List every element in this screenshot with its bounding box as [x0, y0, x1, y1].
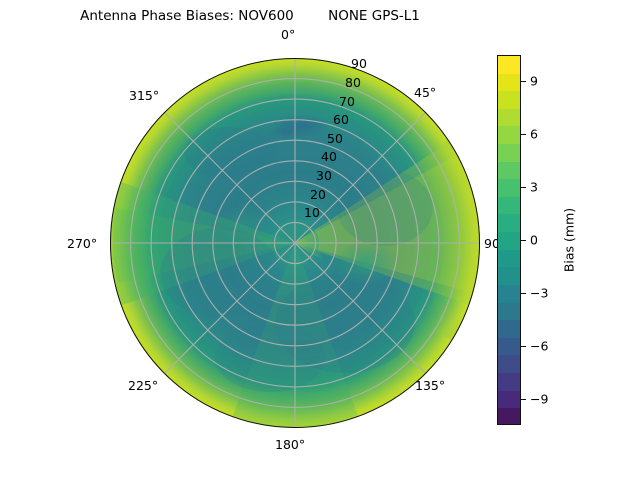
colorbar-tick-label-neg6: −6: [530, 338, 548, 353]
colorbar-tick-label-3: 3: [530, 180, 538, 195]
colorbar-gradient: [497, 55, 521, 425]
colorbar-tick: [521, 134, 526, 135]
colorbar-segment: [498, 391, 520, 409]
colorbar-segment: [498, 373, 520, 391]
colorbar-segment: [498, 285, 520, 303]
contour-fill-group: [110, 58, 480, 428]
radial-label-70: 70: [336, 94, 358, 109]
colorbar-tick-label-9: 9: [530, 74, 538, 89]
colorbar-tick: [521, 81, 526, 82]
page-title: Antenna Phase Biases: NOV600 NONE GPS-L1: [0, 8, 500, 24]
polar-axes: [110, 58, 480, 428]
colorbar-segment: [498, 91, 520, 109]
radial-label-40: 40: [318, 149, 340, 164]
colorbar-tick: [521, 293, 526, 294]
polar-data-surface: [110, 58, 480, 428]
colorbar-tick: [521, 187, 526, 188]
radial-label-10: 10: [301, 205, 323, 220]
colorbar-segment: [498, 74, 520, 92]
colorbar-segment: [498, 109, 520, 127]
colorbar-segment: [498, 162, 520, 180]
colorbar: 9 6 3 0 −3 −6 −9 Bias (mm): [497, 55, 627, 427]
colorbar-segment: [498, 320, 520, 338]
colorbar-tick-label-0: 0: [530, 233, 538, 248]
colorbar-tick-label-neg3: −3: [530, 285, 548, 300]
radial-label-90: 90: [348, 56, 370, 71]
colorbar-segment: [498, 179, 520, 197]
colorbar-segment: [498, 197, 520, 215]
angle-label-180: 180°: [275, 437, 305, 452]
colorbar-axis-label: Bias (mm): [562, 208, 577, 272]
colorbar-tick-label-neg9: −9: [530, 391, 548, 406]
colorbar-segment: [498, 303, 520, 321]
radial-label-50: 50: [324, 131, 346, 146]
angle-label-315: 315°: [129, 88, 159, 103]
polar-contour-svg: [110, 58, 480, 428]
colorbar-tick: [521, 399, 526, 400]
angle-label-0: 0°: [281, 27, 295, 42]
colorbar-segment: [498, 56, 520, 74]
radial-label-60: 60: [330, 112, 352, 127]
colorbar-segment: [498, 250, 520, 268]
colorbar-tick-label-6: 6: [530, 127, 538, 142]
colorbar-tick: [521, 346, 526, 347]
colorbar-segment: [498, 408, 520, 425]
radial-label-30: 30: [313, 168, 335, 183]
figure-canvas: Antenna Phase Biases: NOV600 NONE GPS-L1: [0, 0, 640, 480]
colorbar-segment: [498, 355, 520, 373]
radial-label-80: 80: [342, 75, 364, 90]
angle-label-135: 135°: [415, 378, 445, 393]
angle-label-225: 225°: [128, 378, 158, 393]
colorbar-tick: [521, 240, 526, 241]
angle-label-45: 45°: [414, 85, 436, 100]
colorbar-segment: [498, 214, 520, 232]
colorbar-segment: [498, 232, 520, 250]
colorbar-segment: [498, 267, 520, 285]
radial-label-20: 20: [307, 187, 329, 202]
colorbar-segment: [498, 126, 520, 144]
colorbar-segment: [498, 144, 520, 162]
angle-label-270: 270°: [67, 236, 97, 251]
colorbar-segment: [498, 338, 520, 356]
